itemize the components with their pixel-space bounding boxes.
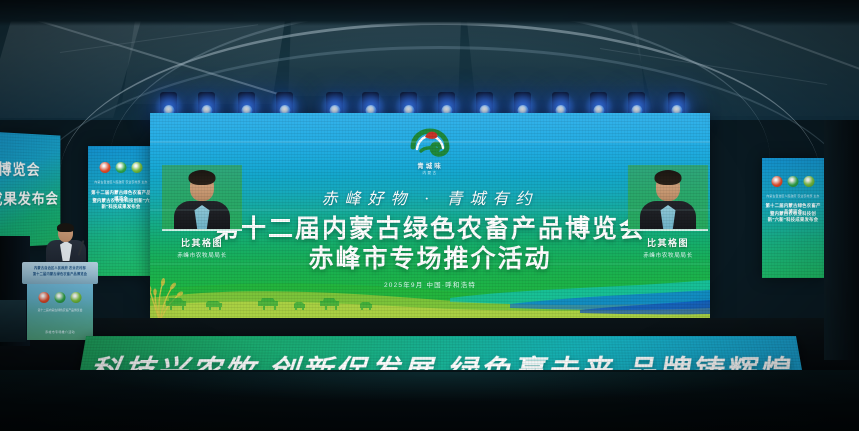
lighting-rig	[150, 78, 710, 118]
poster-logo-row	[772, 176, 815, 187]
speaker-panel-right: 比其格图 赤峰市农牧局局长	[628, 165, 708, 259]
sheep-silhouette-icon	[294, 302, 305, 310]
speaker-role-right: 赤峰市农牧局局长	[628, 251, 708, 259]
poster-header: 内蒙古自治区人民政府 农业农村部 主办	[766, 194, 820, 198]
speaker-role-left: 赤峰市农牧局局长	[162, 251, 242, 259]
sheep-silhouette-icon	[206, 301, 222, 310]
cow-silhouette-icon	[320, 298, 339, 310]
podium-front-panel: 第十二届内蒙古绿色农畜产品博览会 赤峰市专场推介活动	[27, 284, 93, 340]
apple-produce-icon	[772, 176, 783, 187]
floor-reflection	[80, 372, 800, 402]
grain-basket-icon	[804, 176, 815, 187]
cow-silhouette-icon	[258, 298, 278, 310]
main-led-screen: 青城味 内蒙古 赤峰好物 · 青城有约 第十二届内蒙古绿色农畜产品博览会 赤峰市…	[150, 113, 710, 320]
podium-logo-row	[39, 292, 82, 303]
event-brand-logo: 青城味 内蒙古	[393, 127, 467, 176]
green-circle-icon	[788, 176, 799, 187]
apple-produce-icon	[100, 162, 111, 173]
brand-subword: 内蒙古	[393, 171, 467, 176]
presenter-hair	[57, 223, 74, 232]
speaker-hair	[655, 170, 682, 185]
podium-top-plate: 内蒙古自治区人民政府 农业农村部 第十二届内蒙古绿色农畜产品博览会	[22, 262, 98, 284]
grain-basket-icon	[132, 162, 143, 173]
podium: 内蒙古自治区人民政府 农业农村部 第十二届内蒙古绿色农畜产品博览会 第十二届内蒙…	[24, 262, 96, 340]
side-screen-right-poster: 内蒙古自治区人民政府 农业农村部 主办 第十二届内蒙古绿色农畜产品博览会 暨内蒙…	[762, 158, 824, 278]
podium-top-line1: 内蒙古自治区人民政府 农业农村部	[25, 266, 95, 271]
speaker-hair	[189, 170, 216, 185]
cow-silhouette-icon	[166, 298, 186, 310]
side-screen-line1: 博览会	[0, 158, 60, 180]
poster-title-line2: 暨内蒙古农牧业科技创新"六新"科技成果发布会	[91, 198, 151, 210]
screen-date-line: 2025年9月 中国·呼和浩特	[150, 279, 710, 289]
podium-foot-text: 赤峰市专场推介活动	[33, 330, 87, 334]
livestock-silhouettes	[150, 290, 410, 312]
apple-produce-icon	[39, 292, 50, 303]
brand-wordmark: 青城味	[393, 160, 467, 170]
podium-top-line2: 第十二届内蒙古绿色农畜产品博览会	[25, 272, 95, 277]
ceiling-shadow	[0, 0, 859, 26]
podium-body-text: 第十二届内蒙古绿色农畜产品博览会	[33, 308, 87, 312]
speaker-photo-left	[162, 165, 242, 231]
speaker-name-right: 比其格图	[628, 236, 708, 249]
green-circle-icon	[55, 292, 66, 303]
side-screen-inner-left-poster: 内蒙古自治区人民政府 农业农村部 主办 第十二届内蒙古绿色农畜产品博览会 暨内蒙…	[88, 146, 154, 276]
poster-header: 内蒙古自治区人民政府 农业农村部 主办	[92, 180, 150, 184]
stage-photo: 博览会 成果发布会 内蒙古自治区人民政府 农业农村部 主办 第十二届内蒙古绿色农…	[0, 0, 859, 431]
speaker-photo-right	[628, 165, 708, 231]
speaker-name-left: 比其格图	[162, 236, 242, 249]
poster-title-line2: 暨内蒙古农牧业科技创新"六新"科技成果发布会	[765, 211, 821, 223]
speaker-panel-left: 比其格图 赤峰市农牧局局长	[162, 165, 242, 259]
foreground-rail	[0, 300, 26, 342]
sheep-silhouette-icon	[360, 302, 372, 310]
green-swirl-mountain-logo-icon	[405, 127, 455, 159]
stage-right-shadow	[824, 120, 859, 360]
green-circle-icon	[116, 162, 127, 173]
screen-grassland-artwork	[150, 268, 710, 320]
side-screen-line2: 成果发布会	[0, 188, 60, 209]
poster-logo-row	[100, 162, 143, 173]
grain-basket-icon	[71, 292, 82, 303]
